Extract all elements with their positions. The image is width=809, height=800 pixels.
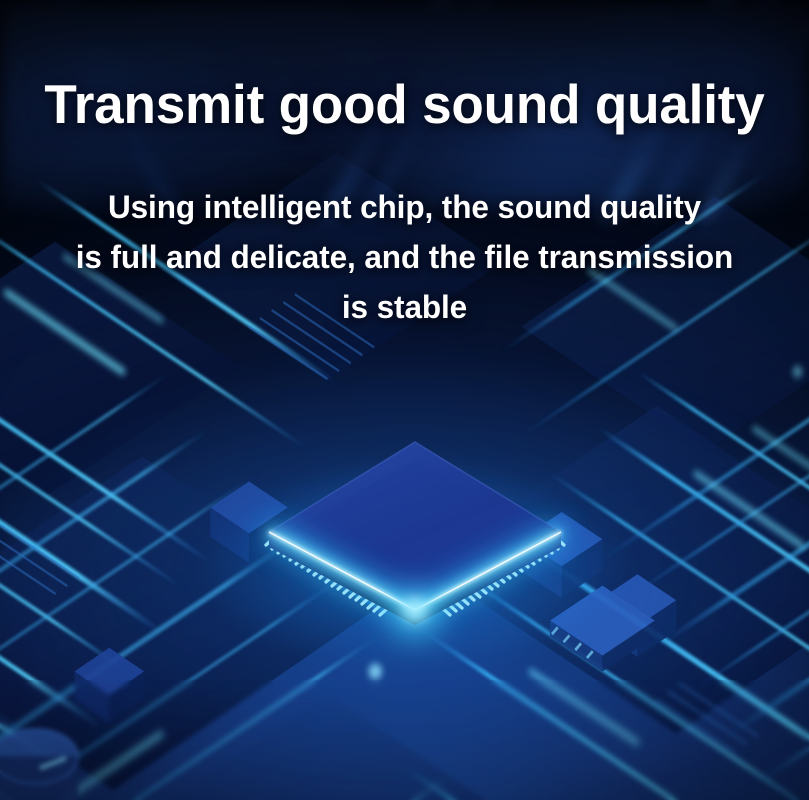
page-title: Transmit good sound quality — [14, 76, 795, 134]
subtitle-line-1: Using intelligent chip, the sound qualit… — [24, 182, 785, 232]
microchip-graphic — [255, 420, 575, 630]
subtitle-line-2: is full and delicate, and the file trans… — [24, 232, 785, 282]
banner-image: Transmit good sound quality Using intell… — [0, 0, 809, 800]
subtitle-line-3: is stable — [24, 282, 785, 332]
background-depth-of-field — [0, 680, 809, 800]
page-subtitle: Using intelligent chip, the sound qualit… — [24, 182, 785, 332]
